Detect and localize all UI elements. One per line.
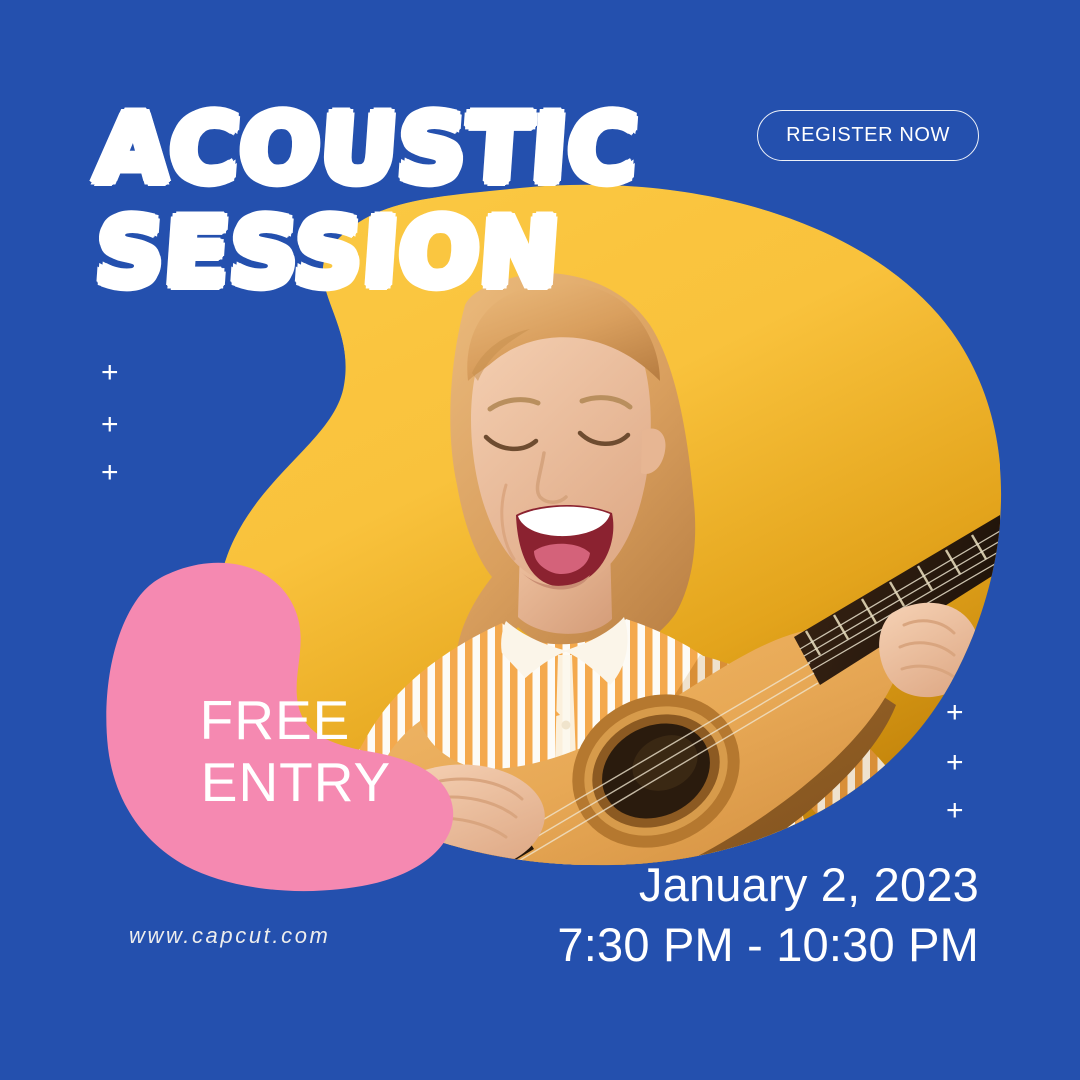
pink-blob-path <box>106 563 453 891</box>
plus-decoration-icon: + <box>101 458 119 488</box>
plus-decoration-icon: + <box>101 358 119 388</box>
event-datetime: January 2, 2023 7:30 PM - 10:30 PM <box>557 855 979 975</box>
event-time: 7:30 PM - 10:30 PM <box>557 915 979 975</box>
plus-decoration-icon: + <box>946 748 964 778</box>
plus-decoration-icon: + <box>101 410 119 440</box>
shirt-button <box>562 721 571 730</box>
event-poster: ACOUSTIC SESSION REGISTER NOW FREE ENTRY… <box>0 0 1080 1080</box>
website-url[interactable]: www.capcut.com <box>129 923 330 949</box>
plus-decoration-icon: + <box>946 796 964 826</box>
title-line-1: ACOUSTIC <box>93 104 641 196</box>
plus-decoration-icon: + <box>946 698 964 728</box>
register-now-button[interactable]: REGISTER NOW <box>757 110 979 161</box>
pink-blob-shape <box>100 560 460 890</box>
